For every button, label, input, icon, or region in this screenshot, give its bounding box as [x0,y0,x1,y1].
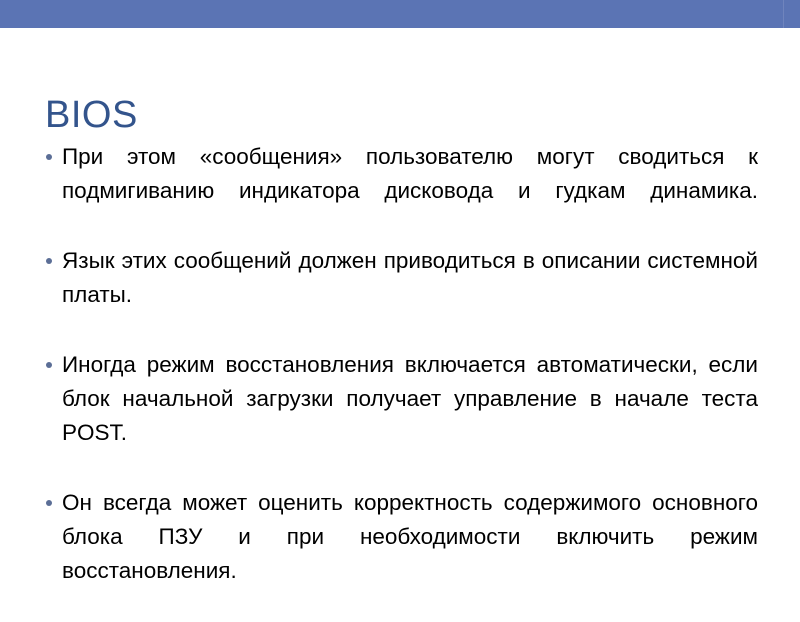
page-title: BIOS [45,93,138,137]
bullet-list-item: Язык этих сообщений должен приводиться в… [40,244,758,346]
bullet-list-item: При этом «сообщения» пользователю могут … [40,140,758,242]
bullet-item-label: Иногда режим восстановления включается а… [62,348,758,484]
bullet-list-item: Иногда режим восстановления включается а… [40,348,758,484]
bullet-list-item: Он всегда может оценить корректность сод… [40,486,758,622]
presentation-slide: BIOS При этом «сообщения» пользователю м… [0,0,800,600]
slide-body-content: При этом «сообщения» пользователю могут … [40,140,758,622]
accent-bar-edge-divider [783,0,784,28]
bullet-item-label: При этом «сообщения» пользователю могут … [62,140,758,242]
bullet-dot-icon [46,362,52,368]
bullet-item-label: Язык этих сообщений должен приводиться в… [62,244,758,346]
slide-accent-bar [0,0,800,28]
bullet-dot-icon [46,258,52,264]
bullet-item-label: Он всегда может оценить корректность сод… [62,486,758,622]
bullet-dot-icon [46,154,52,160]
bullet-dot-icon [46,500,52,506]
